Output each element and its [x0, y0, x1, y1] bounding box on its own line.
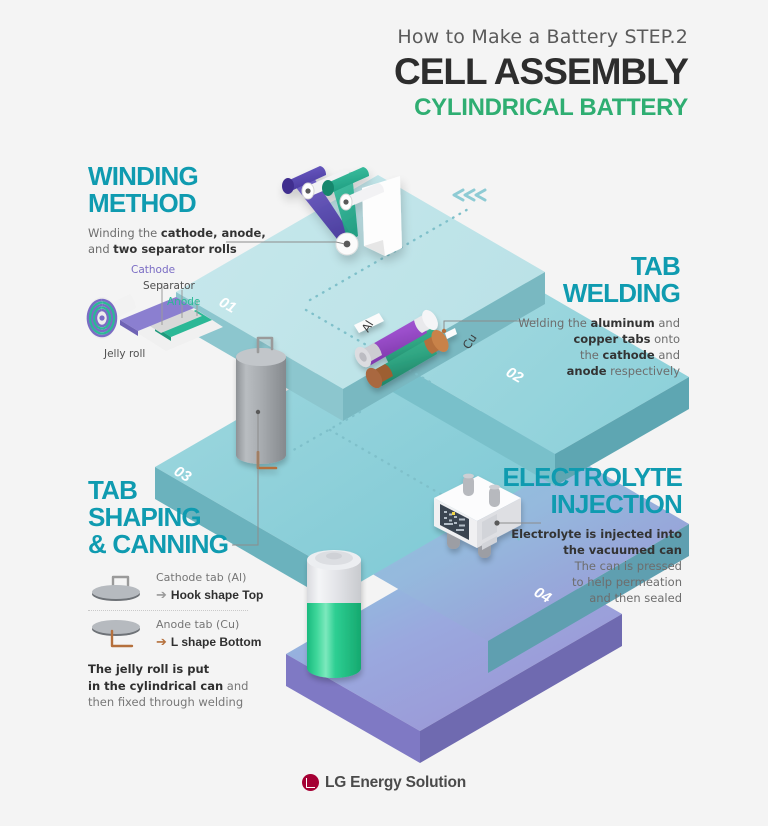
arrow-icon: ➔	[156, 587, 167, 603]
step-01-title: WINDINGMETHOD	[88, 163, 278, 217]
jellyroll-label-separator: Separator	[143, 280, 195, 292]
step-02-title: TABWELDING	[480, 253, 680, 307]
step-03-title: TAB SHAPING & CANNING	[88, 477, 288, 558]
step-01-body: Winding the cathode, anode,and two separ…	[88, 226, 278, 258]
cathode-tab-result: Hook shape Top	[171, 588, 263, 602]
step-02-block: TABWELDING Welding the aluminum andcoppe…	[480, 253, 680, 380]
flow-chevron-icon	[454, 190, 485, 200]
step-03-note: The jelly roll is putin the cylindrical …	[88, 661, 288, 711]
l-shape-tab-icon	[88, 617, 146, 651]
step-04-block: ELECTROLYTEINJECTION Electrolyte is inje…	[470, 464, 682, 606]
footer: LG Energy Solution	[0, 774, 768, 797]
step-03-block: TAB SHAPING & CANNING	[88, 477, 288, 558]
infographic-canvas: How to Make a Battery STEP.2 CELL ASSEMB…	[0, 0, 768, 826]
lg-logo-icon	[302, 774, 319, 791]
jellyroll-caption: Jelly roll	[104, 348, 145, 360]
step-02-body: Welding the aluminum andcopper tabs onto…	[480, 316, 680, 379]
anode-tab-label: Anode tab (Cu)	[156, 618, 261, 633]
lg-logo: LG Energy Solution	[302, 774, 466, 792]
arrow-icon: ➔	[156, 634, 167, 650]
tab-legend: Cathode tab (Al) ➔ Hook shape Top Anode …	[88, 570, 288, 651]
cathode-tab-label: Cathode tab (Al)	[156, 571, 263, 586]
cylindrical-can-with-tabs	[236, 338, 286, 468]
step-04-title: ELECTROLYTEINJECTION	[470, 464, 682, 518]
anode-tab-result: L shape Bottom	[171, 635, 261, 649]
hook-tab-icon	[88, 570, 146, 604]
step-04-body: Electrolyte is injected intothe vacuumed…	[470, 527, 682, 606]
jellyroll-label-cathode: Cathode	[131, 264, 175, 276]
jellyroll-label-anode: Anode	[167, 296, 200, 308]
brand-name: LG Energy Solution	[325, 774, 466, 792]
step-01-block: WINDINGMETHOD Winding the cathode, anode…	[88, 163, 278, 258]
legend-divider	[88, 610, 248, 611]
finished-battery	[307, 550, 361, 678]
